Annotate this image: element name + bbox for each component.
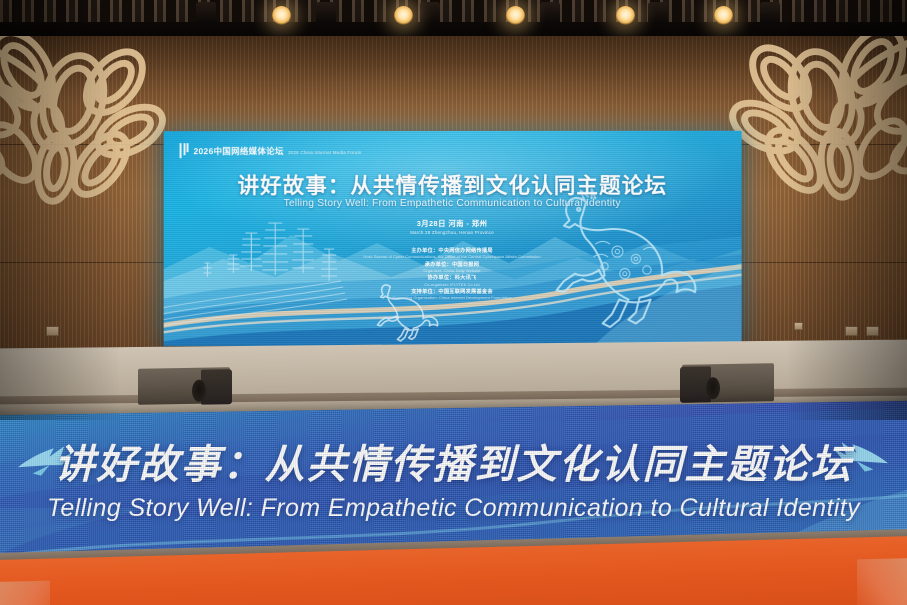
screen-title-en: Telling Story Well: From Empathetic Comm… xyxy=(164,198,742,209)
forum-logo-cn: 2026中国网络媒体论坛 xyxy=(194,146,284,156)
credit-organizer: 承办单位：中国日报网 Organizer: China Daily Websit… xyxy=(164,262,742,273)
stage-monitor-wedge-right xyxy=(682,363,774,403)
spotlight-lamp xyxy=(616,6,635,25)
stage-monitor-wedge-left xyxy=(138,367,230,405)
chrysanthemum-flower-motif-left xyxy=(0,6,173,226)
carpet-highlight-left xyxy=(0,581,50,605)
credit-host: 主办单位：中央网信办网络传播局 Host: Bureau of Cyber Co… xyxy=(164,248,742,259)
banner-title-cn: 讲好故事：从共情传播到文化认同主题论坛 xyxy=(0,432,907,490)
credit-co-organizer: 协办单位：科大讯飞 Co-organizer: iFLYTEK Co Ltd xyxy=(164,275,742,286)
forum-logo-en: 2026 China Internet Media Forum xyxy=(288,150,361,155)
spotlight-lamp xyxy=(272,6,291,25)
screen-credits: 主办单位：中央网信办网络传播局 Host: Bureau of Cyber Co… xyxy=(164,248,742,303)
three-bars-mark-icon xyxy=(180,143,189,158)
spotlight-lamp xyxy=(394,6,413,25)
spotlight-lamp xyxy=(714,6,733,25)
carpet-highlight-right xyxy=(857,558,907,605)
credit-supporting: 支持单位：中国互联网发展基金会 Supporting Organization:… xyxy=(164,289,742,300)
overhead-lighting-truss xyxy=(0,0,907,36)
stage-led-screen: 2026中国网络媒体论坛 2026 China Internet Media F… xyxy=(164,131,742,346)
screen-title-cn: 讲好故事：从共情传播到文化认同主题论坛 xyxy=(164,169,742,200)
stage-scene: 2026中国网络媒体论坛 2026 China Internet Media F… xyxy=(0,0,907,605)
screen-date-cn: 3月28日 河南 - 郑州 xyxy=(417,219,487,228)
screen-date-en: March 28 Zhengzhou, Henan Province xyxy=(164,228,742,237)
screen-date: 3月28日 河南 - 郑州 March 28 Zhengzhou, Henan … xyxy=(164,219,742,237)
banner-title-en: Telling Story Well: From Empathetic Comm… xyxy=(0,494,907,523)
forum-logo: 2026中国网络媒体论坛 2026 China Internet Media F… xyxy=(180,141,362,159)
spotlight-lamp xyxy=(506,6,525,25)
